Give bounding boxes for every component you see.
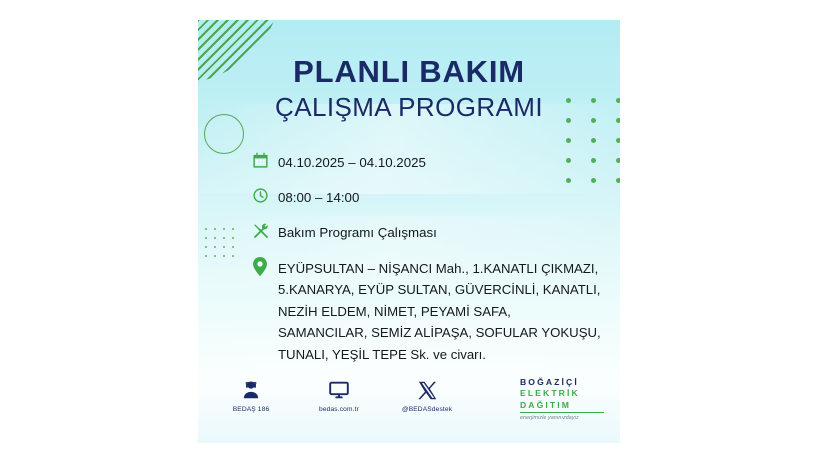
logo-divider [520,412,604,413]
monitor-icon [306,377,372,403]
contact-x-label: @BEDASdestek [394,406,460,413]
contact-channels: BEDAŞ 186 bedas.com.tr [218,377,460,413]
title-main: PLANLI BAKIM [198,56,620,89]
tools-icon [252,222,278,244]
bedas-logo: BOĞAZİÇİ ELEKTRİK DAĞITIM enerjimizle ya… [520,377,604,421]
contact-phone-label: BEDAŞ 186 [218,406,284,413]
logo-line-elektrik: ELEKTRİK [520,388,604,399]
card-footer: BEDAŞ 186 bedas.com.tr [198,377,620,433]
logo-line-dagitim: DAĞITIM [520,400,604,411]
dot-grid-left-decoration [205,228,241,264]
contact-phone[interactable]: BEDAŞ 186 [218,377,284,413]
time-range-text: 08:00 – 14:00 [278,187,359,208]
info-row-work-type: Bakım Programı Çalışması [252,222,602,244]
logo-line-bogazici: BOĞAZİÇİ [520,377,604,388]
info-list: 04.10.2025 – 04.10.2025 08:00 – 14:00 [252,152,602,365]
contact-x[interactable]: @BEDASdestek [394,377,460,413]
support-agent-icon [218,377,284,403]
title-subtitle: ÇALIŞMA PROGRAMI [198,93,620,123]
contact-website[interactable]: bedas.com.tr [306,377,372,413]
screenshot-canvas: PLANLI BAKIM ÇALIŞMA PROGRAMI 04.10.2025… [0,0,820,461]
info-row-time: 08:00 – 14:00 [252,187,602,209]
maintenance-notice-card: PLANLI BAKIM ÇALIŞMA PROGRAMI 04.10.2025… [198,20,620,443]
address-text: EYÜPSULTAN – NİŞANCI Mah., 1.KANATLI ÇIK… [278,257,602,365]
calendar-icon [252,152,278,174]
contact-website-label: bedas.com.tr [306,406,372,413]
date-range-text: 04.10.2025 – 04.10.2025 [278,152,426,173]
page-title: PLANLI BAKIM ÇALIŞMA PROGRAMI [198,56,620,122]
logo-tagline: enerjimizle yanınızdayız [520,415,604,421]
info-row-address: EYÜPSULTAN – NİŞANCI Mah., 1.KANATLI ÇIK… [252,257,602,365]
location-pin-icon [252,257,278,279]
x-twitter-icon [394,377,460,403]
info-row-date: 04.10.2025 – 04.10.2025 [252,152,602,174]
work-type-text: Bakım Programı Çalışması [278,222,437,243]
clock-icon [252,187,278,209]
